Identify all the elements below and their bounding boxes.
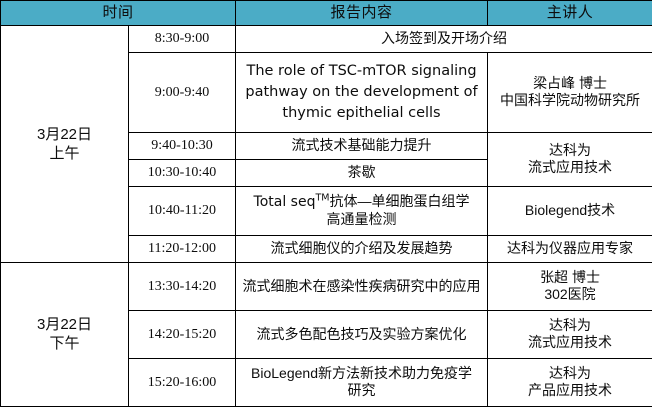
session-date: 3月22日 <box>5 315 124 334</box>
content-line: 高通量检测 <box>240 211 483 229</box>
session-period: 下午 <box>5 334 124 353</box>
content-line: The role of TSC-mTOR signaling <box>240 61 483 82</box>
table-header: 时间 报告内容 主讲人 <box>1 1 652 26</box>
content-cell: 流式细胞术在感染性疾病研究中的应用 <box>236 262 488 310</box>
speaker-cell: 达科为 流式应用技术 <box>488 310 652 358</box>
speaker-cell: 达科为 产品应用技术 <box>488 358 652 406</box>
speaker-name: 达科为 <box>492 317 648 335</box>
content-cell: 流式技术基础能力提升 <box>236 132 488 159</box>
content-cell: Total seqTM抗体—单细胞蛋白组学 高通量检测 <box>236 186 488 235</box>
speaker-cell: 达科为 流式应用技术 <box>488 132 652 186</box>
time-cell: 10:30-10:40 <box>129 159 236 186</box>
time-cell: 9:40-10:30 <box>129 132 236 159</box>
speaker-name: 达科为 <box>492 365 648 383</box>
session-period: 上午 <box>5 144 124 163</box>
time-cell: 11:20-12:00 <box>129 236 236 263</box>
session-cell-afternoon: 3月22日 下午 <box>1 262 129 406</box>
table-body: 3月22日 上午 8:30-9:00 入场签到及开场介绍 9:00-9:40 T… <box>1 26 652 407</box>
time-cell: 9:00-9:40 <box>129 52 236 132</box>
trademark-superscript: TM <box>315 192 329 203</box>
content-cell: 流式细胞仪的介绍及发展趋势 <box>236 236 488 263</box>
content-line: 研究 <box>240 382 483 400</box>
schedule-table-container: 时间 报告内容 主讲人 3月22日 上午 8:30-9:00 入场签到及开场介绍… <box>0 0 652 407</box>
column-header-content: 报告内容 <box>236 1 488 26</box>
content-cell: 入场签到及开场介绍 <box>236 26 652 53</box>
speaker-cell: 达科为仪器应用专家 <box>488 236 652 263</box>
speaker-affiliation: 产品应用技术 <box>492 382 648 400</box>
content-cell: 茶歇 <box>236 159 488 186</box>
content-cell: BioLegend新方法新技术助力免疫学 研究 <box>236 358 488 406</box>
time-cell: 8:30-9:00 <box>129 26 236 53</box>
column-header-time: 时间 <box>1 1 236 26</box>
time-cell: 13:30-14:20 <box>129 262 236 310</box>
session-date: 3月22日 <box>5 125 124 144</box>
session-cell-morning: 3月22日 上午 <box>1 26 129 263</box>
time-cell: 14:20-15:20 <box>129 310 236 358</box>
conference-schedule-table: 时间 报告内容 主讲人 3月22日 上午 8:30-9:00 入场签到及开场介绍… <box>0 0 652 407</box>
speaker-cell: 张超 博士 302医院 <box>488 262 652 310</box>
content-cell: The role of TSC-mTOR signaling pathway o… <box>236 52 488 132</box>
content-suffix: 抗体—单细胞蛋白组学 <box>330 193 470 209</box>
content-prefix: Total seq <box>254 194 316 210</box>
time-cell: 10:40-11:20 <box>129 186 236 235</box>
table-row: 3月22日 上午 8:30-9:00 入场签到及开场介绍 <box>1 26 652 53</box>
speaker-affiliation: 流式应用技术 <box>492 159 648 177</box>
speaker-name: 张超 博士 <box>492 269 648 287</box>
content-line: BioLegend新方法新技术助力免疫学 <box>240 365 483 383</box>
content-cell: 流式多色配色技巧及实验方案优化 <box>236 310 488 358</box>
speaker-affiliation: 中国科学院动物研究所 <box>492 92 648 110</box>
content-line: thymic epithelial cells <box>240 103 483 124</box>
content-line: Total seqTM抗体—单细胞蛋白组学 <box>240 193 483 212</box>
table-row: 3月22日 下午 13:30-14:20 流式细胞术在感染性疾病研究中的应用 张… <box>1 262 652 310</box>
speaker-name: 达科为 <box>492 142 648 160</box>
content-line: pathway on the development of <box>240 82 483 103</box>
time-cell: 15:20-16:00 <box>129 358 236 406</box>
header-row: 时间 报告内容 主讲人 <box>1 1 652 26</box>
speaker-cell: Biolegend技术 <box>488 186 652 235</box>
column-header-speaker: 主讲人 <box>488 1 652 26</box>
speaker-affiliation: 302医院 <box>492 286 648 304</box>
speaker-affiliation: 流式应用技术 <box>492 334 648 352</box>
speaker-name: 梁占峰 博士 <box>492 75 648 93</box>
speaker-cell: 梁占峰 博士 中国科学院动物研究所 <box>488 52 652 132</box>
